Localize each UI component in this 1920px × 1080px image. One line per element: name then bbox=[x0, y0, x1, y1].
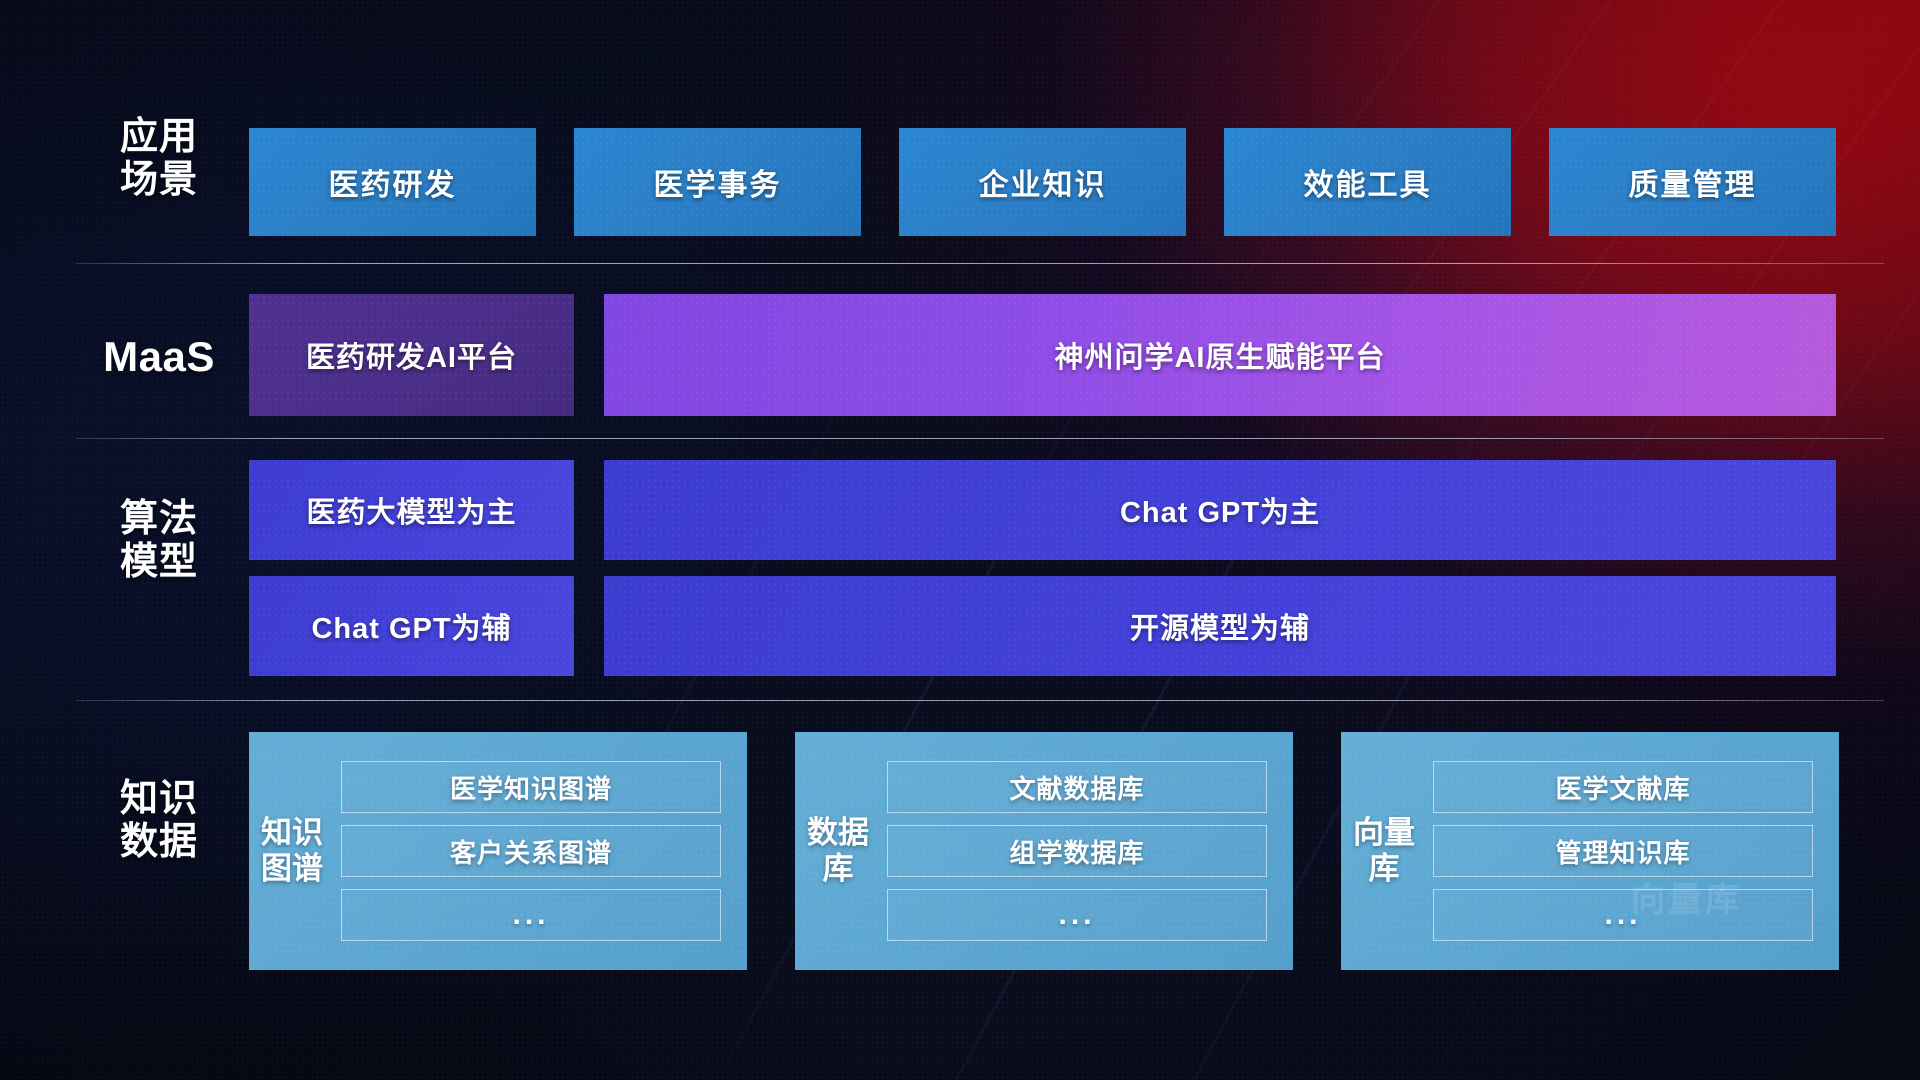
row-label-knowledge-line1: 知识 bbox=[84, 778, 234, 821]
maas-card-pharma-ai-platform-label: 医药研发AI平台 bbox=[306, 334, 517, 376]
knowledge-item[interactable]: 客户关系图谱 bbox=[341, 825, 721, 877]
algo-card-chatgpt-secondary-label: Chat GPT为辅 bbox=[311, 605, 511, 647]
app-scenario-label-4: 效能工具 bbox=[1304, 160, 1432, 204]
row-label-algorithm: 算法 模型 bbox=[84, 498, 234, 583]
knowledge-panel-knowledge-graph[interactable]: 知识图谱 医学知识图谱 客户关系图谱 ... bbox=[249, 732, 747, 970]
knowledge-panel-vector-store[interactable]: 向量库 向量库 医学文献库 管理知识库 ... bbox=[1341, 732, 1839, 970]
divider-algorithm-knowledge bbox=[76, 700, 1884, 701]
knowledge-item[interactable]: 医学知识图谱 bbox=[341, 761, 721, 813]
diagram-content: 应用 场景 MaaS 算法 模型 知识 数据 医药研发 医学事务 企业 bbox=[0, 0, 1920, 1080]
app-scenario-label-5: 质量管理 bbox=[1629, 160, 1757, 204]
algo-card-chatgpt-secondary[interactable]: Chat GPT为辅 bbox=[249, 576, 574, 676]
knowledge-item-more[interactable]: ... bbox=[887, 889, 1267, 941]
maas-card-pharma-ai-platform[interactable]: 医药研发AI平台 bbox=[249, 294, 574, 416]
row-label-application-line1: 应用 bbox=[84, 116, 234, 159]
knowledge-panel-items-vector-store: 医学文献库 管理知识库 ... bbox=[1417, 761, 1825, 941]
app-scenario-label-3: 企业知识 bbox=[979, 160, 1107, 204]
app-scenario-card-3[interactable]: 企业知识 bbox=[899, 128, 1186, 236]
divider-maas-algorithm bbox=[76, 438, 1884, 439]
maas-card-shenzhou-wenxue-platform-label: 神州问学AI原生赋能平台 bbox=[1054, 334, 1385, 376]
app-scenario-card-1[interactable]: 医药研发 bbox=[249, 128, 536, 236]
app-scenario-card-2[interactable]: 医学事务 bbox=[574, 128, 861, 236]
row-label-maas-line1: MaaS bbox=[84, 333, 234, 380]
algo-card-chatgpt-primary-label: Chat GPT为主 bbox=[1120, 489, 1320, 531]
app-scenario-label-1: 医药研发 bbox=[329, 160, 457, 204]
divider-application-maas bbox=[76, 263, 1884, 264]
app-scenario-card-5[interactable]: 质量管理 bbox=[1549, 128, 1836, 236]
algo-card-pharma-llm-primary[interactable]: 医药大模型为主 bbox=[249, 460, 574, 560]
knowledge-panel-database[interactable]: 数据库 文献数据库 组学数据库 ... bbox=[795, 732, 1293, 970]
app-scenario-label-2: 医学事务 bbox=[654, 160, 782, 204]
knowledge-panel-items-knowledge-graph: 医学知识图谱 客户关系图谱 ... bbox=[325, 761, 733, 941]
algo-card-opensource-secondary-label: 开源模型为辅 bbox=[1130, 605, 1310, 647]
maas-card-shenzhou-wenxue-platform[interactable]: 神州问学AI原生赋能平台 bbox=[604, 294, 1836, 416]
row-label-knowledge: 知识 数据 bbox=[84, 778, 234, 863]
row-label-knowledge-line2: 数据 bbox=[84, 821, 234, 864]
row-label-algorithm-line1: 算法 bbox=[84, 498, 234, 541]
algo-card-opensource-secondary[interactable]: 开源模型为辅 bbox=[604, 576, 1836, 676]
algo-card-pharma-llm-primary-label: 医药大模型为主 bbox=[306, 489, 516, 531]
knowledge-item[interactable]: 文献数据库 bbox=[887, 761, 1267, 813]
knowledge-item[interactable]: 组学数据库 bbox=[887, 825, 1267, 877]
knowledge-item-more[interactable]: ... bbox=[1433, 889, 1813, 941]
knowledge-panel-items-database: 文献数据库 组学数据库 ... bbox=[871, 761, 1279, 941]
knowledge-item-more[interactable]: ... bbox=[341, 889, 721, 941]
algo-card-chatgpt-primary[interactable]: Chat GPT为主 bbox=[604, 460, 1836, 560]
row-label-maas: MaaS bbox=[84, 333, 234, 380]
row-label-application-line2: 场景 bbox=[84, 159, 234, 202]
architecture-diagram-slide: 应用 场景 MaaS 算法 模型 知识 数据 医药研发 医学事务 企业 bbox=[0, 0, 1920, 1080]
knowledge-item[interactable]: 医学文献库 bbox=[1433, 761, 1813, 813]
row-label-application: 应用 场景 bbox=[84, 116, 234, 201]
row-label-algorithm-line2: 模型 bbox=[84, 541, 234, 584]
knowledge-panel-title-knowledge-graph: 知识图谱 bbox=[259, 815, 325, 887]
app-scenario-card-4[interactable]: 效能工具 bbox=[1224, 128, 1511, 236]
knowledge-panel-title-database: 数据库 bbox=[805, 815, 871, 887]
knowledge-item[interactable]: 管理知识库 bbox=[1433, 825, 1813, 877]
knowledge-panel-title-vector-store: 向量库 bbox=[1351, 815, 1417, 887]
